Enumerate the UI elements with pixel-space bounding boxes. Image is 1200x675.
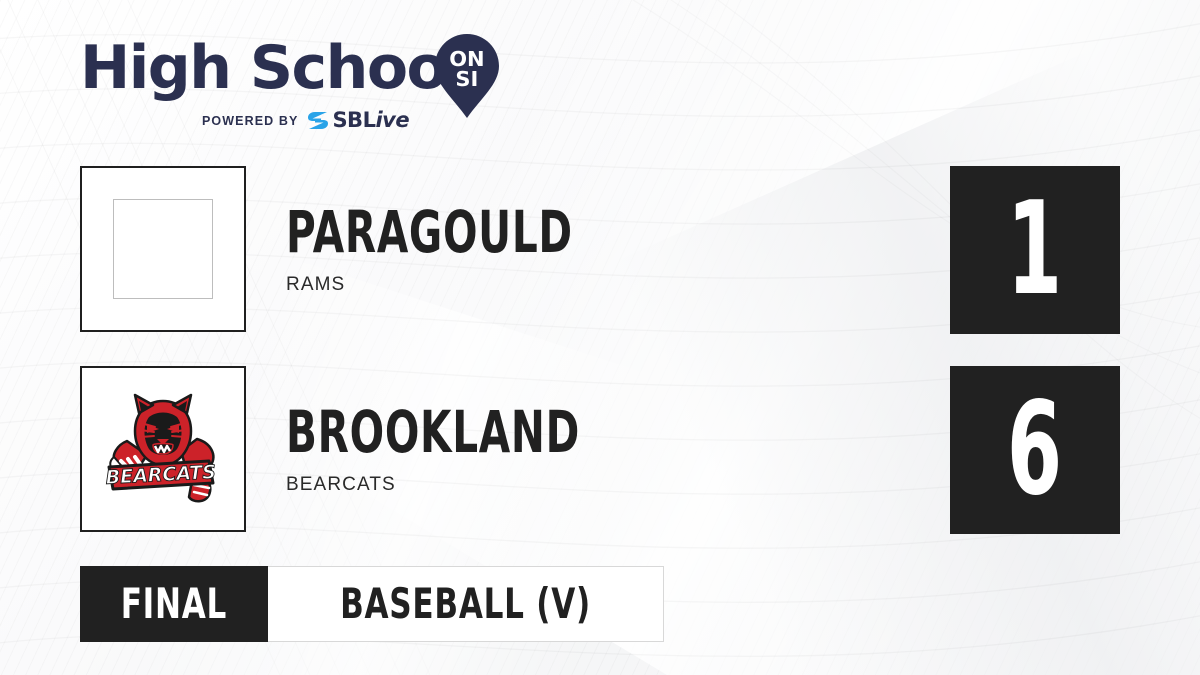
scoreboard-graphic: High School ON SI POWERED BY SBLive (0, 0, 1200, 675)
powered-by-lockup: POWERED BY SBLive (202, 110, 409, 131)
status-banner: FINAL BASEBALL (V) (80, 566, 664, 642)
sblive-wordmark-italic: ive (375, 108, 409, 132)
sport-label: BASEBALL (V) (340, 583, 591, 625)
team-score-box: 6 (950, 366, 1120, 534)
team-identity: PARAGOULD RAMS (286, 166, 696, 332)
brand-logo: High School ON SI POWERED BY SBLive (80, 38, 510, 132)
svg-text:SI: SI (455, 67, 478, 90)
team-mascot: RAMS (286, 274, 696, 296)
sblive-wordmark-main: SBL (332, 108, 375, 132)
team-name: BROOKLAND (286, 403, 580, 461)
team-logo-box: BEARCATS (80, 366, 246, 532)
sblive-wordmark: SBLive (332, 110, 409, 131)
brand-wordmark: High School (80, 38, 465, 98)
team-score-box: 1 (950, 166, 1120, 334)
sblive-s-mark-icon (307, 110, 329, 131)
team-row: PARAGOULD RAMS 1 (80, 166, 1120, 334)
team-identity: BROOKLAND BEARCATS (286, 366, 706, 532)
team-logo-box (80, 166, 246, 332)
missing-image-placeholder-icon (113, 199, 213, 299)
game-state-label: FINAL (121, 583, 227, 625)
team-name: PARAGOULD (286, 203, 573, 261)
on-si-pin-icon: ON SI (435, 34, 499, 118)
team-mascot: BEARCATS (286, 474, 706, 496)
team-score: 1 (1007, 186, 1062, 314)
team-score: 6 (1007, 386, 1062, 514)
sport-block: BASEBALL (V) (268, 566, 664, 642)
powered-by-label: POWERED BY (202, 114, 298, 128)
game-state-block: FINAL (80, 566, 268, 642)
bearcats-mascot-logo-icon: BEARCATS (97, 383, 229, 515)
team-row: BEARCATS BROOKLAND BEARCATS 6 (80, 366, 1120, 534)
sblive-logo: SBLive (307, 110, 409, 131)
